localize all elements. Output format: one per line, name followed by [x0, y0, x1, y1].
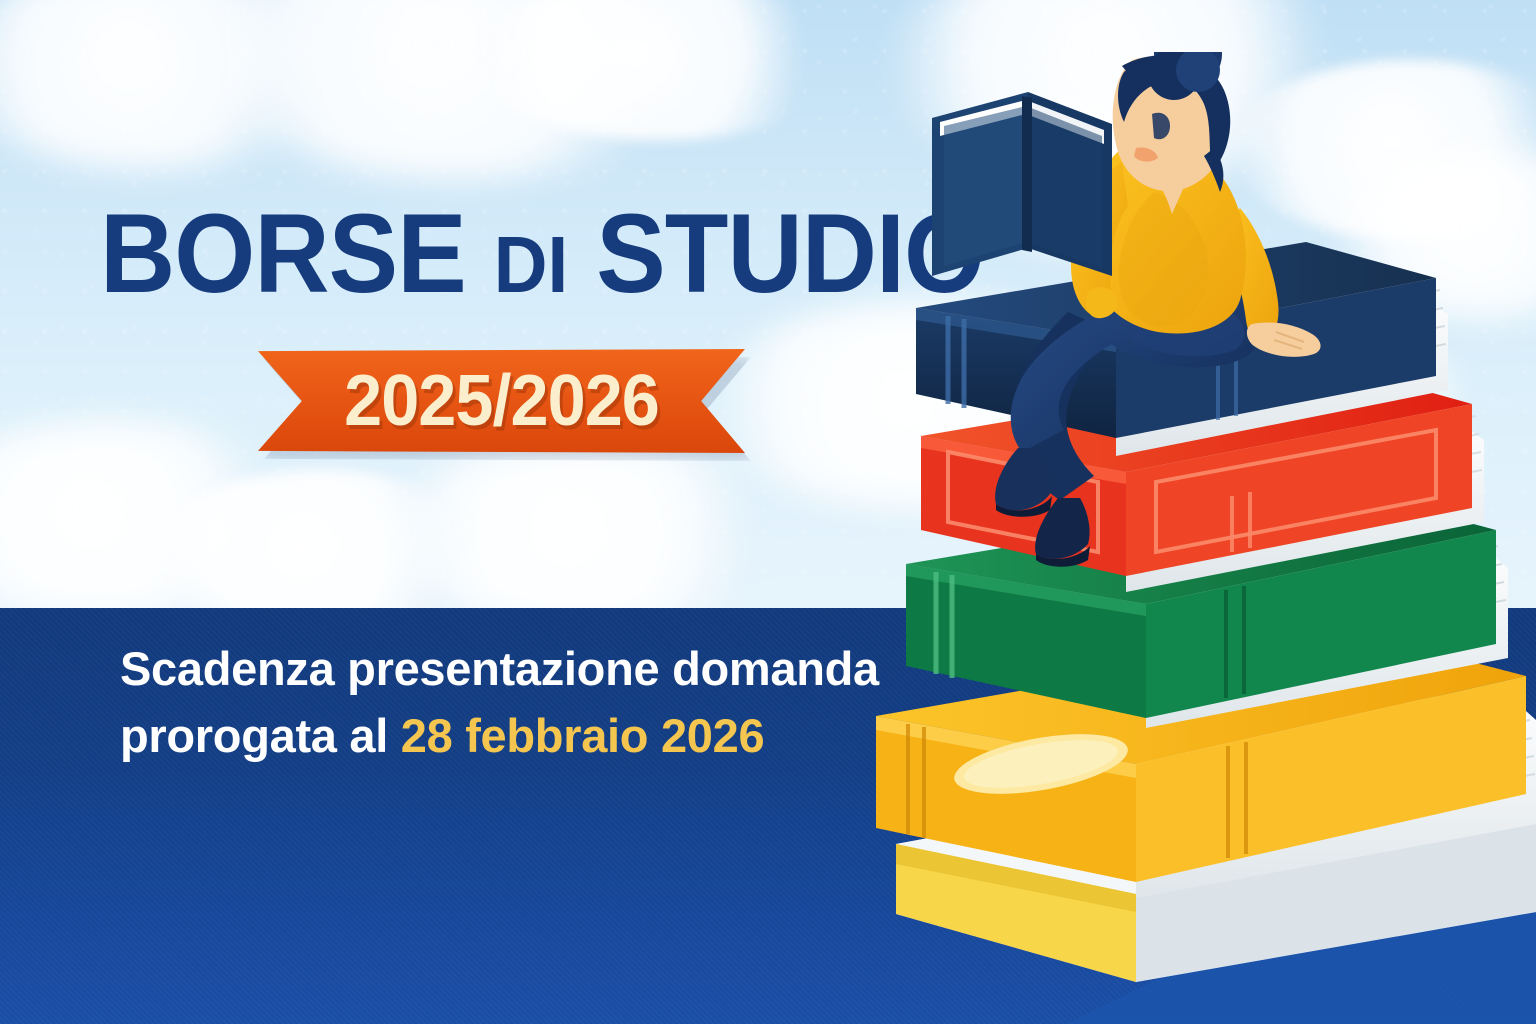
title-word-borse: BORSE — [100, 191, 466, 316]
subtitle-line-2: prorogata al 28 febbraio 2026 — [120, 703, 880, 770]
subtitle-line-1: Scadenza presentazione domanda — [120, 636, 880, 703]
scholarship-poster: BORSE DI STUDIO 2025/2026 Scadenza prese… — [0, 0, 1536, 1024]
years-ribbon: 2025/2026 — [258, 349, 745, 453]
subtitle-line-2-prefix: prorogata al — [120, 709, 401, 762]
title-word-di: DI — [494, 220, 568, 309]
deadline-date: 28 febbraio 2026 — [401, 709, 765, 762]
open-book-held — [932, 92, 1112, 276]
ribbon-years-label: 2025/2026 — [270, 349, 733, 453]
book-stack-illustration — [836, 52, 1536, 982]
deadline-subtitle: Scadenza presentazione domanda prorogata… — [120, 636, 880, 769]
